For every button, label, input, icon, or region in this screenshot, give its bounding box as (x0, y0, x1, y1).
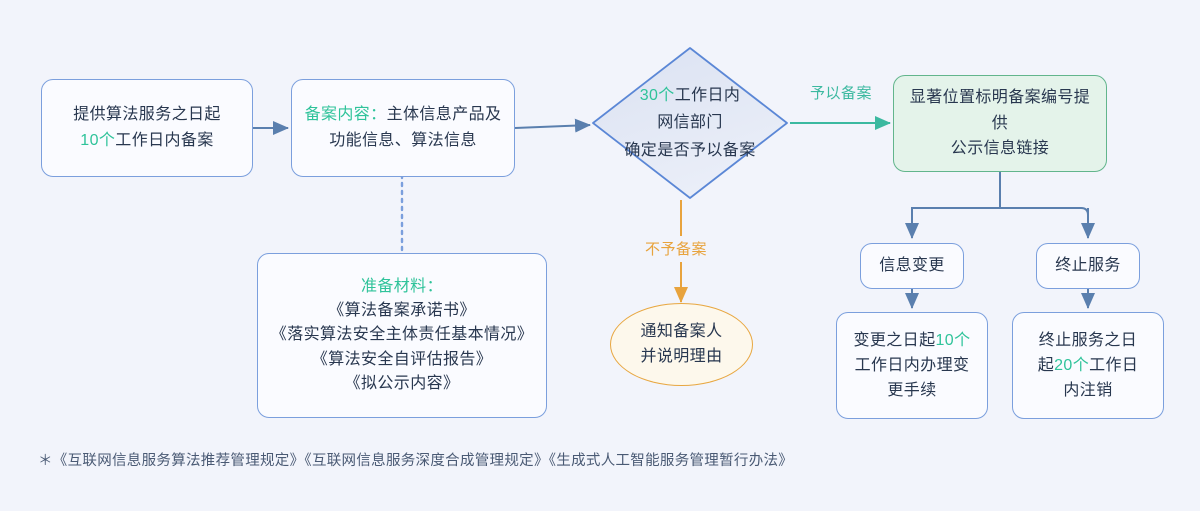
node-materials-text: 准备材料： 《算法备案承诺书》 《落实算法安全主体责任基本情况》 《算法安全自评… (258, 275, 546, 397)
edge-label-approve: 予以备案 (810, 82, 872, 103)
node-change-procedure-line1: 变更之日起10个 (847, 328, 977, 353)
node-start[interactable]: 提供算法服务之日起 10个工作日内备案 (41, 79, 253, 177)
node-materials-item-3: 《拟公示内容》 (268, 372, 536, 396)
node-terminate-service-text: 终止服务 (1037, 253, 1139, 279)
node-publish-line1: 显著位置标明备案编号提供 (904, 85, 1096, 137)
node-deregister-procedure-line1: 终止服务之日 (1023, 328, 1153, 353)
flowchart-canvas: 提供算法服务之日起 10个工作日内备案 备案内容：主体信息产品及 功能信息、算法… (0, 0, 1200, 511)
node-change-procedure-line2: 工作日内办理变 (847, 353, 977, 378)
node-materials-item-2: 《算法安全自评估报告》 (268, 348, 536, 372)
node-materials-item-1: 《落实算法安全主体责任基本情况》 (268, 323, 536, 347)
node-decision-accent: 30个 (640, 87, 675, 104)
node-notify-line1: 通知备案人 (621, 320, 742, 345)
node-deregister-procedure-line2: 起20个工作日 (1023, 353, 1153, 378)
node-decision-line1-rest: 工作日内 (675, 87, 741, 104)
node-record-content-line2: 功能信息、算法信息 (302, 128, 504, 154)
node-info-change[interactable]: 信息变更 (860, 243, 964, 289)
node-deregister-procedure-accent: 20个 (1054, 357, 1089, 374)
node-start-line2-rest: 工作日内备案 (115, 132, 213, 149)
node-start-line2: 10个工作日内备案 (52, 128, 242, 154)
node-notify-line2: 并说明理由 (621, 345, 742, 370)
node-decision-line1: 30个工作日内 (640, 82, 741, 110)
node-start-line1: 提供算法服务之日起 (52, 102, 242, 128)
node-materials-title: 准备材料： (268, 275, 536, 299)
node-record-content[interactable]: 备案内容：主体信息产品及 功能信息、算法信息 (291, 79, 515, 177)
node-start-text: 提供算法服务之日起 10个工作日内备案 (42, 102, 252, 154)
node-decision[interactable]: 30个工作日内 网信部门 确定是否予以备案 (593, 48, 787, 198)
footnote: ＊《互联网信息服务算法推荐管理规定》《互联网信息服务深度合成管理规定》《生成式人… (38, 449, 793, 470)
node-change-procedure-accent: 10个 (936, 332, 971, 349)
node-terminate-service[interactable]: 终止服务 (1036, 243, 1140, 289)
node-decision-line3: 确定是否予以备案 (624, 137, 755, 165)
node-change-procedure-line3: 更手续 (847, 378, 977, 403)
node-change-procedure-text: 变更之日起10个 工作日内办理变 更手续 (837, 328, 987, 404)
node-record-content-line1: 备案内容：主体信息产品及 (302, 102, 504, 128)
node-deregister-procedure-line2-pre: 起 (1038, 357, 1054, 374)
node-deregister-procedure[interactable]: 终止服务之日 起20个工作日 内注销 (1012, 312, 1164, 419)
node-publish-record-number[interactable]: 显著位置标明备案编号提供 公示信息链接 (893, 75, 1107, 172)
node-materials-item-0: 《算法备案承诺书》 (268, 299, 536, 323)
node-record-content-accent: 备案内容： (305, 106, 387, 123)
node-publish-text: 显著位置标明备案编号提供 公示信息链接 (894, 85, 1106, 163)
node-record-content-line1-rest: 主体信息产品及 (387, 106, 502, 123)
node-change-procedure-line1-rest: 变更之日起 (853, 332, 935, 349)
node-publish-line2: 公示信息链接 (904, 136, 1096, 162)
node-record-content-text: 备案内容：主体信息产品及 功能信息、算法信息 (292, 102, 514, 154)
node-deregister-procedure-text: 终止服务之日 起20个工作日 内注销 (1013, 328, 1163, 404)
node-materials[interactable]: 准备材料： 《算法备案承诺书》 《落实算法安全主体责任基本情况》 《算法安全自评… (257, 253, 547, 418)
node-deregister-procedure-line3: 内注销 (1023, 378, 1153, 403)
node-notify-text: 通知备案人 并说明理由 (611, 320, 752, 370)
node-decision-text: 30个工作日内 网信部门 确定是否予以备案 (593, 48, 787, 198)
edge-label-reject: 不予备案 (645, 238, 707, 259)
node-decision-line2: 网信部门 (657, 109, 723, 137)
node-deregister-procedure-line2-rest: 工作日 (1089, 357, 1138, 374)
node-notify-applicant[interactable]: 通知备案人 并说明理由 (610, 303, 753, 386)
node-start-accent: 10个 (80, 132, 115, 149)
node-info-change-text: 信息变更 (861, 253, 963, 279)
node-change-procedure[interactable]: 变更之日起10个 工作日内办理变 更手续 (836, 312, 988, 419)
